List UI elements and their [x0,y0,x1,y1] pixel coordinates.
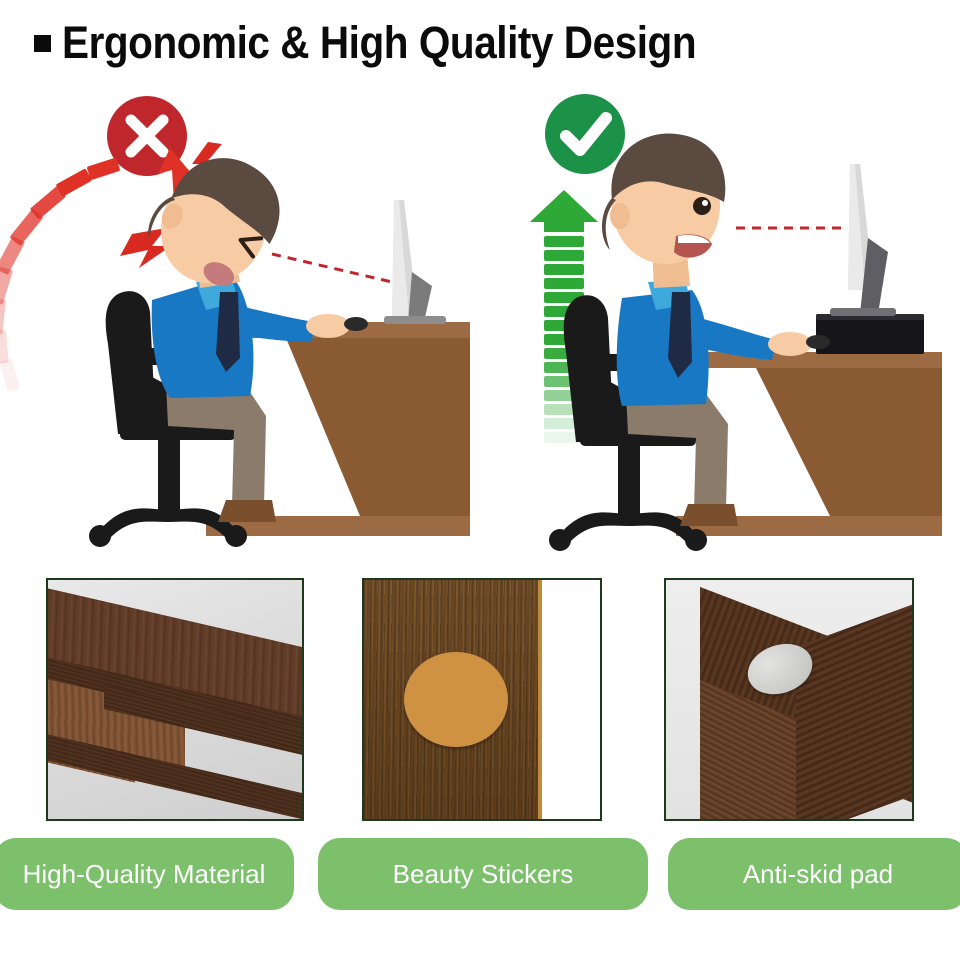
scene-bad-posture [0,86,480,566]
scene-good-posture [480,86,960,566]
pill-label: Anti-skid pad [743,859,893,890]
panel-material [46,578,304,821]
monitor-raised [830,164,896,316]
green-check-badge-icon [545,94,625,174]
wood-cap-sticker [404,652,508,748]
pill-pad[interactable]: Anti-skid pad [668,838,960,910]
page-title: Ergonomic & High Quality Design [62,17,696,69]
pill-sticker[interactable]: Beauty Stickers [318,838,648,910]
panel-sticker [362,578,602,821]
monitor-low [384,200,446,324]
pill-label: Beauty Stickers [393,859,574,890]
caption-pills: High-Quality Material Beauty Stickers An… [0,838,960,910]
sight-line-downward [272,254,392,282]
square-bullet-icon [34,35,51,52]
pill-material[interactable]: High-Quality Material [0,838,294,910]
panel-pad [664,578,914,821]
monitor-riser [816,314,924,354]
page-header: Ergonomic & High Quality Design [0,12,960,74]
product-photo-panels [0,578,960,823]
pill-label: High-Quality Material [23,859,266,890]
infographic-page: Ergonomic & High Quality Design [0,0,960,960]
comparison-illustrations [0,86,960,566]
